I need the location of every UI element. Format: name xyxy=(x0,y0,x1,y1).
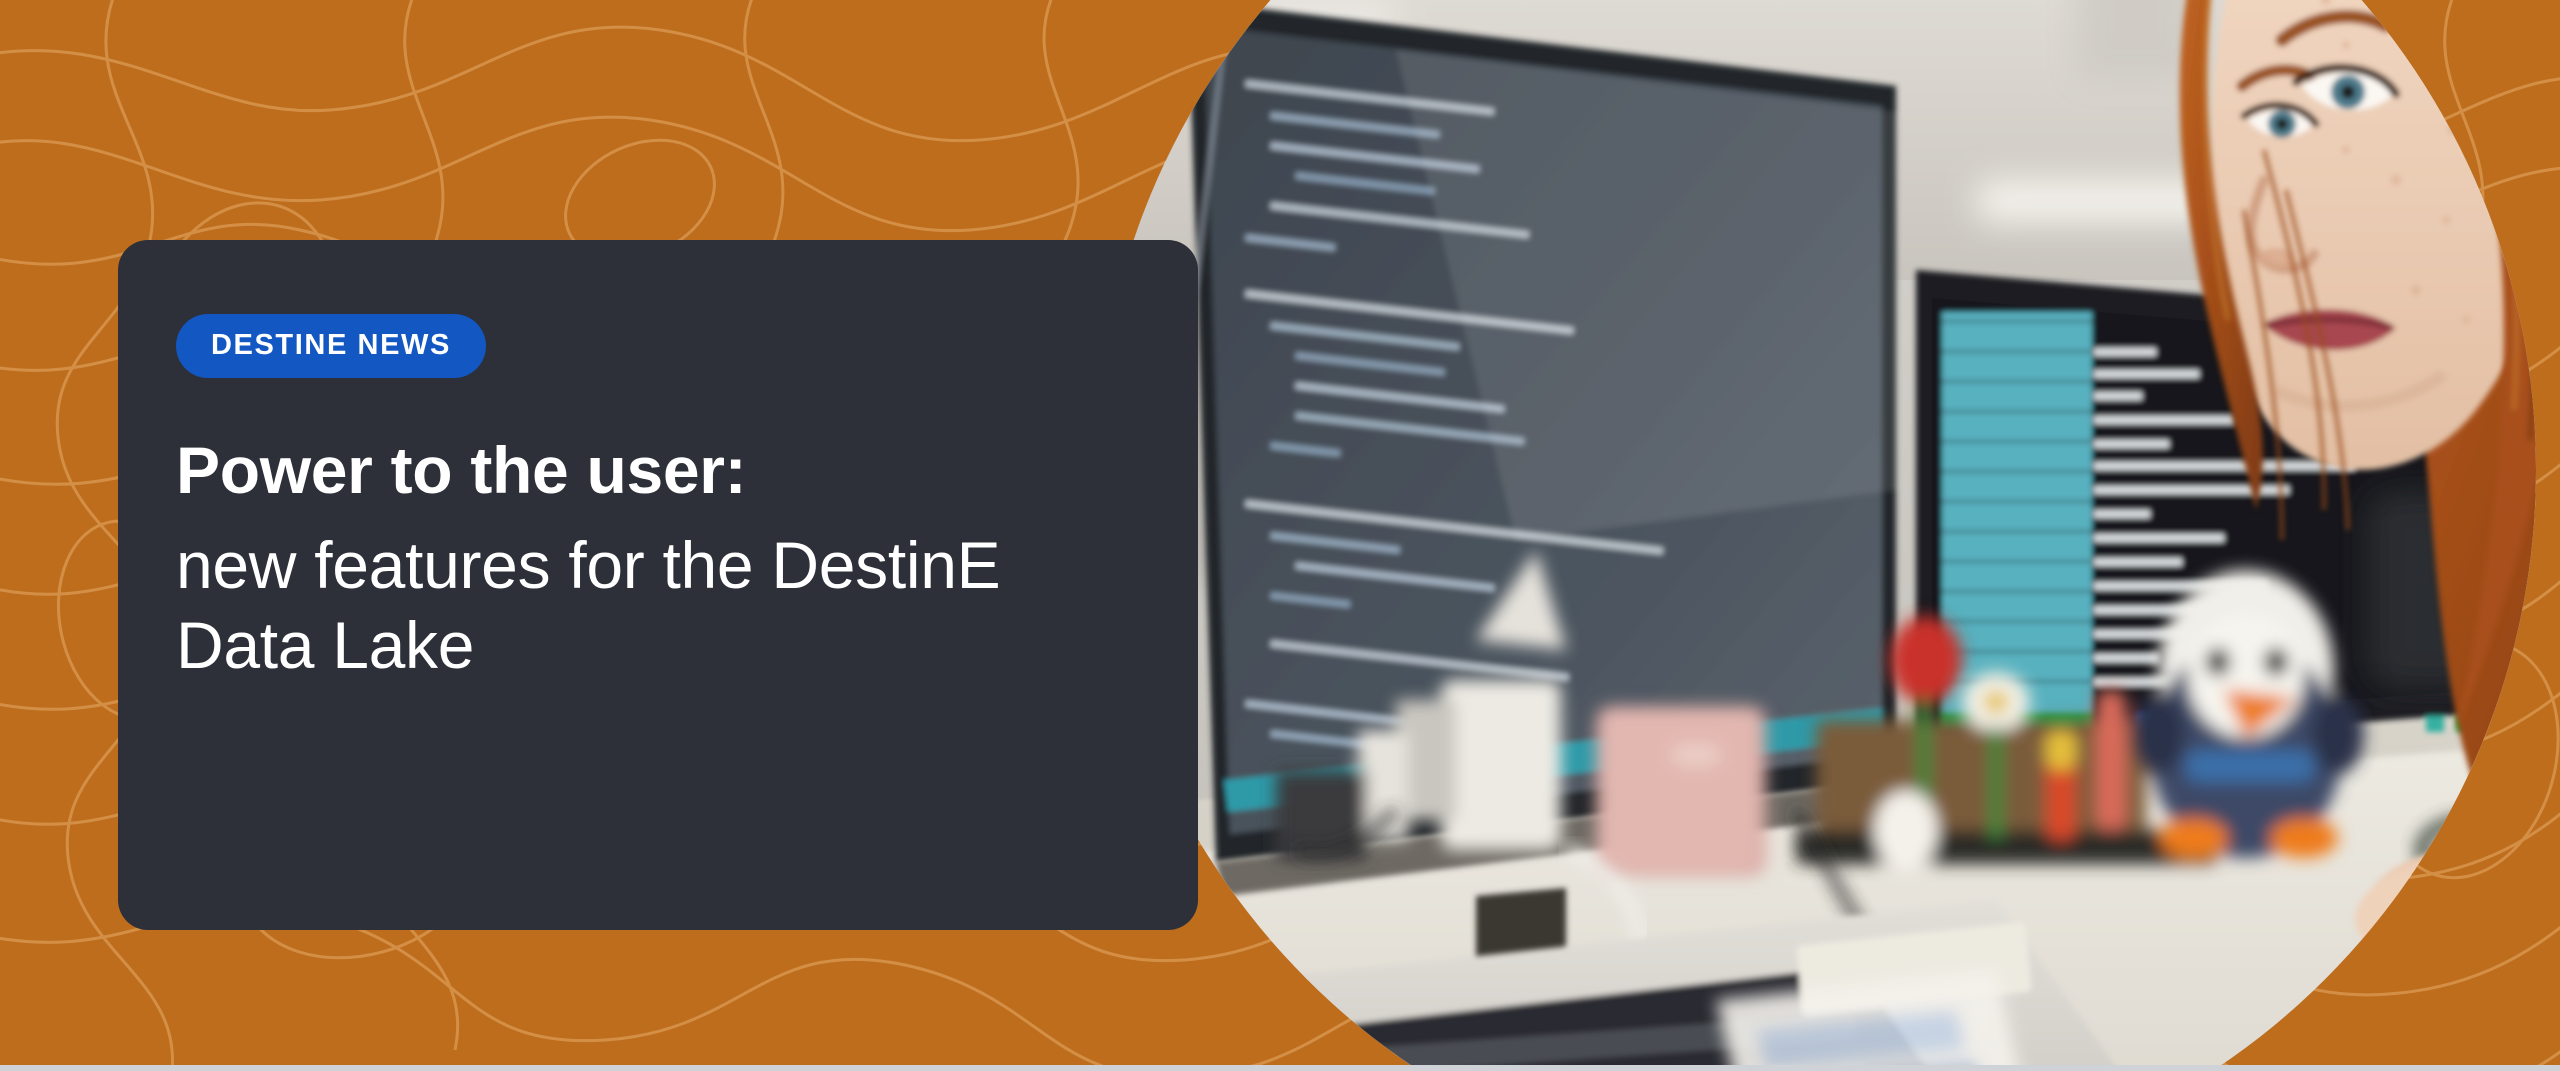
office-scene-image xyxy=(1096,0,2560,1071)
hero-photo xyxy=(1096,0,2560,1071)
destine-news-badge: DESTINE NEWS xyxy=(176,314,486,378)
destine-news-banner: DESTINE NEWS Power to the user: new feat… xyxy=(0,0,2560,1071)
bottom-divider xyxy=(0,1065,2560,1071)
headline-bold-line: Power to the user: xyxy=(176,430,1156,511)
headline-subline: new features for the DestinE Data Lake xyxy=(176,525,1156,686)
news-card: DESTINE NEWS Power to the user: new feat… xyxy=(118,240,1198,930)
page-title: Power to the user: new features for the … xyxy=(176,430,1156,686)
